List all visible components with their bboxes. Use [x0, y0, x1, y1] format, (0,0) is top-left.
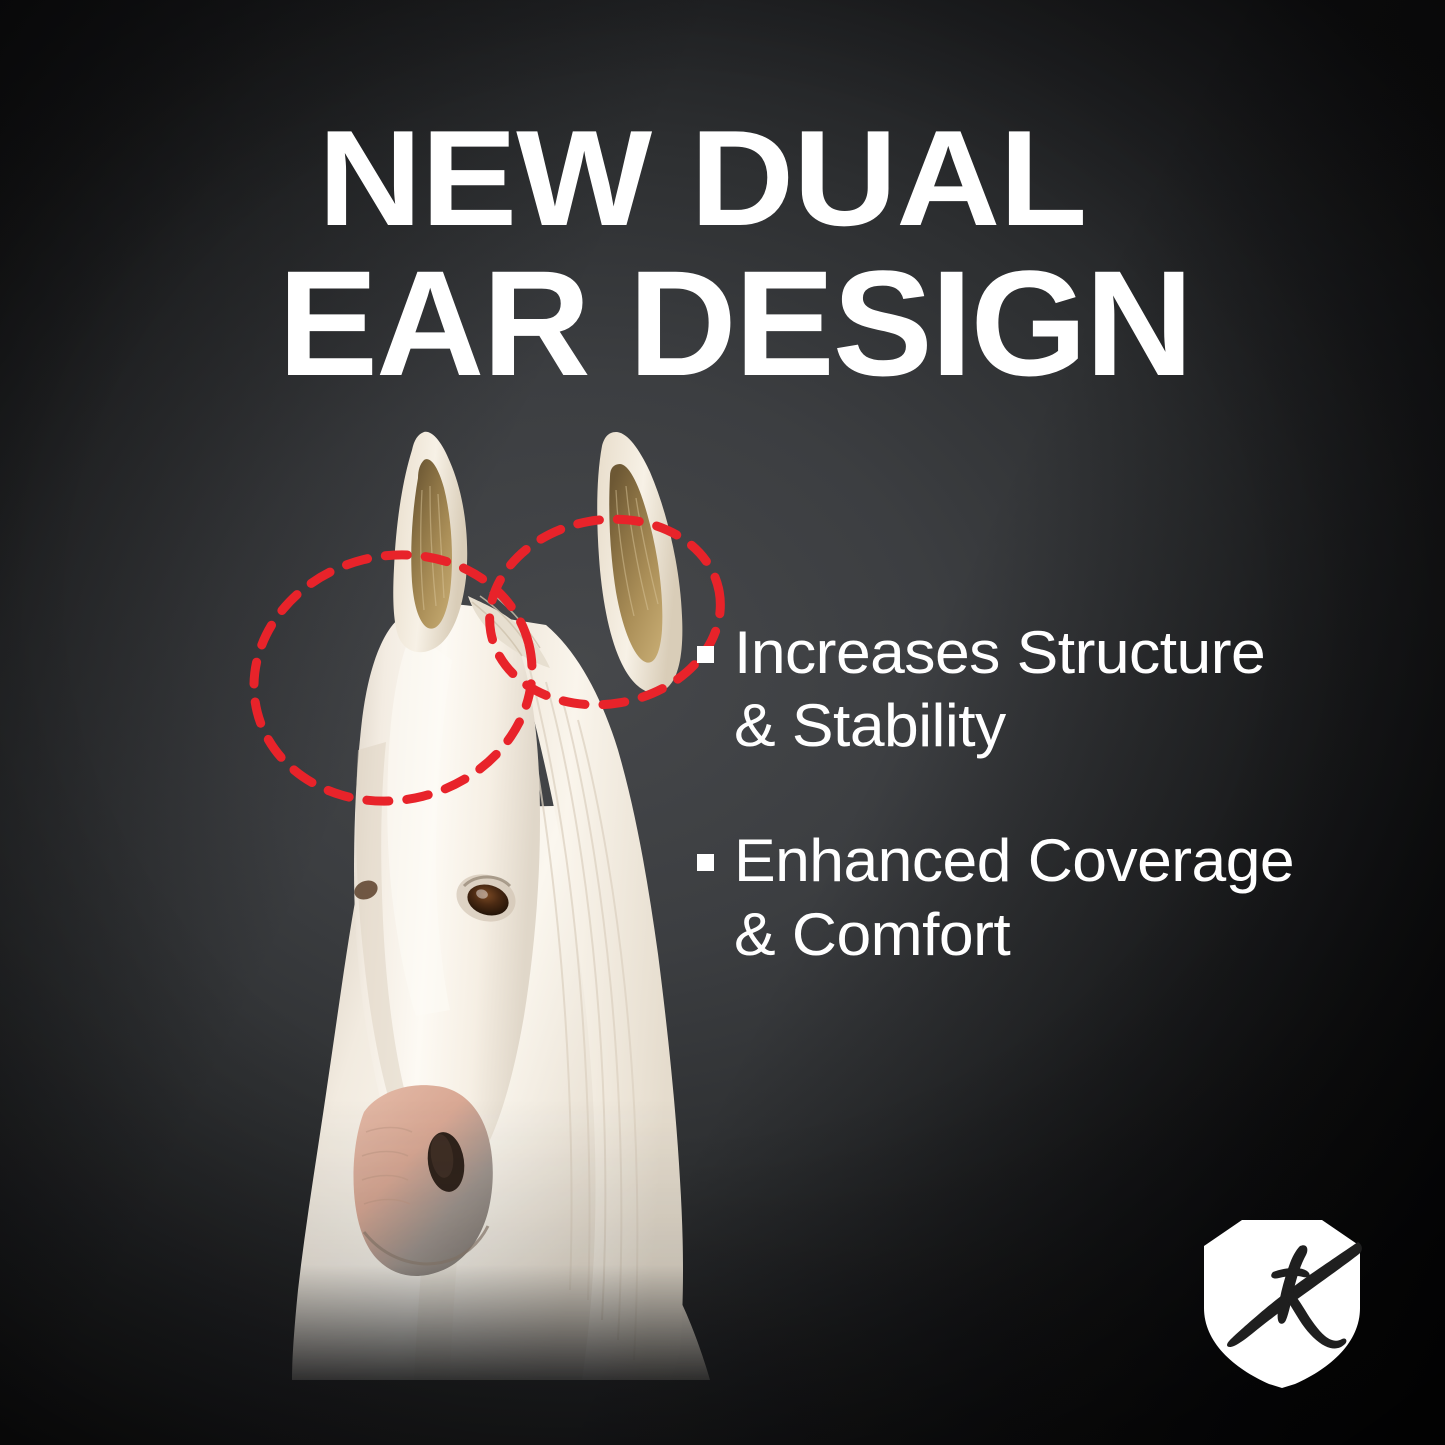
feature-item-1: Increases Structure & Stability [697, 616, 1387, 762]
feature-list: Increases Structure & Stability Enhanced… [697, 616, 1387, 1033]
headline-line-2: EAR DESIGN [278, 251, 1198, 397]
feature-item-2: Enhanced Coverage & Comfort [697, 824, 1387, 970]
feature-item-2-line-2: & Comfort [734, 898, 1294, 971]
feature-item-2-line-1: Enhanced Coverage [734, 824, 1294, 897]
headline: NEW DUAL EAR DESIGN [318, 113, 1198, 396]
feature-item-2-text: Enhanced Coverage & Comfort [734, 824, 1294, 970]
square-bullet-icon [697, 646, 714, 663]
feature-item-1-line-1: Increases Structure [734, 616, 1265, 689]
shield-logo-icon [1199, 1216, 1365, 1388]
feature-item-1-text: Increases Structure & Stability [734, 616, 1265, 762]
feature-item-1-line-2: & Stability [734, 689, 1265, 762]
horse-left-ear [393, 432, 467, 652]
square-bullet-icon [697, 854, 714, 871]
promo-banner: NEW DUAL EAR DESIGN [0, 0, 1445, 1445]
brand-logo [1199, 1216, 1365, 1388]
horse-right-ear [597, 432, 682, 693]
headline-line-1: NEW DUAL [318, 113, 1251, 245]
